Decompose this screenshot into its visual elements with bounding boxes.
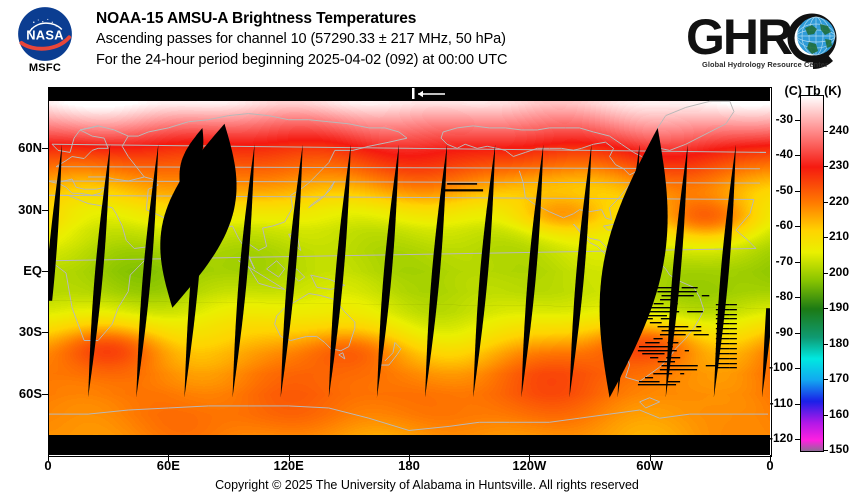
colorbar-tick-kelvin — [823, 344, 828, 345]
colorbar-tick-kelvin — [823, 379, 828, 380]
figure-title: NOAA-15 AMSU-A Brightness Temperatures — [96, 8, 676, 29]
colorbar-label-kelvin: 200 — [829, 265, 854, 279]
latitude-tick — [42, 148, 48, 149]
colorbar-tick-kelvin — [823, 450, 828, 451]
ghrc-subtitle: Global Hydrology Resource Center — [684, 60, 846, 69]
figure-root: NASA MSFC NOAA-15 AMSU-A Brightness Temp… — [0, 0, 854, 502]
latitude-tick — [42, 210, 48, 211]
colorbar-label-kelvin: 180 — [829, 336, 854, 350]
svg-text:NASA: NASA — [26, 28, 64, 43]
colorbar-tick-celsius — [795, 226, 800, 227]
colorbar-tick-celsius — [795, 439, 800, 440]
colorbar-label-kelvin: 230 — [829, 158, 854, 172]
latitude-label: 30S — [0, 324, 42, 339]
colorbar-label-celsius: -30 — [759, 112, 793, 126]
colorbar-tick-kelvin — [823, 202, 828, 203]
colorbar-label-celsius: -90 — [759, 325, 793, 339]
colorbar-label-celsius: -70 — [759, 254, 793, 268]
colorbar-tick-kelvin — [823, 237, 828, 238]
longitude-label: 0 — [18, 458, 78, 473]
colorbar-tick-celsius — [795, 368, 800, 369]
longitude-label: 180 — [379, 458, 439, 473]
latitude-tick — [42, 271, 48, 272]
latitude-label: EQ — [0, 263, 42, 278]
colorbar-label-celsius: -60 — [759, 218, 793, 232]
nasa-meatball-icon: NASA — [17, 6, 73, 62]
colorbar-label-celsius: -120 — [759, 431, 793, 445]
latitude-label: 30N — [0, 202, 42, 217]
left-arrow-marker-icon — [412, 88, 446, 99]
colorbar-tick-celsius — [795, 262, 800, 263]
colorbar-tick-kelvin — [823, 166, 828, 167]
colorbar-label-kelvin: 170 — [829, 371, 854, 385]
colorbar-label-celsius: -110 — [759, 396, 793, 410]
latitude-label: 60S — [0, 386, 42, 401]
latitude-tick — [42, 394, 48, 395]
svg-text:GHR: GHR — [686, 9, 793, 65]
map-plot[interactable] — [48, 87, 770, 455]
longitude-label: 60W — [620, 458, 680, 473]
colorbar-tick-kelvin — [823, 273, 828, 274]
longitude-label: 120E — [259, 458, 319, 473]
colorbar-label-kelvin: 240 — [829, 123, 854, 137]
colorbar-label-celsius: -80 — [759, 289, 793, 303]
colorbar-tick-kelvin — [823, 415, 828, 416]
colorbar-tick-celsius — [795, 404, 800, 405]
colorbar-tick-celsius — [795, 333, 800, 334]
colorbar-tick-celsius — [795, 155, 800, 156]
longitude-label: 60E — [138, 458, 198, 473]
nasa-logo: NASA MSFC — [10, 6, 80, 76]
colorbar-tick-celsius — [795, 191, 800, 192]
figure-subtitle: Ascending passes for channel 10 (57290.3… — [96, 29, 676, 50]
colorbar-tick-kelvin — [823, 308, 828, 309]
copyright-text: Copyright © 2025 The University of Alaba… — [0, 478, 854, 492]
longitude-label: 120W — [499, 458, 559, 473]
colorbar-label-celsius: -50 — [759, 183, 793, 197]
colorbar-gradient — [801, 96, 823, 451]
colorbar-label-kelvin: 210 — [829, 229, 854, 243]
colorbar-label-kelvin: 160 — [829, 407, 854, 421]
colorbar-label-kelvin: 220 — [829, 194, 854, 208]
colorbar — [800, 95, 824, 452]
latitude-tick — [42, 332, 48, 333]
longitude-label: 0 — [740, 458, 800, 473]
colorbar-tick-celsius — [795, 297, 800, 298]
title-block: NOAA-15 AMSU-A Brightness Temperatures A… — [96, 8, 676, 71]
colorbar-label-celsius: -100 — [759, 360, 793, 374]
figure-period: For the 24-hour period beginning 2025-04… — [96, 50, 676, 71]
colorbar-label-celsius: -40 — [759, 147, 793, 161]
colorbar-tick-celsius — [795, 120, 800, 121]
latitude-label: 60N — [0, 140, 42, 155]
colorbar-tick-kelvin — [823, 131, 828, 132]
nasa-sublabel: MSFC — [10, 62, 80, 74]
colorbar-label-kelvin: 150 — [829, 442, 854, 456]
colorbar-label-kelvin: 190 — [829, 300, 854, 314]
